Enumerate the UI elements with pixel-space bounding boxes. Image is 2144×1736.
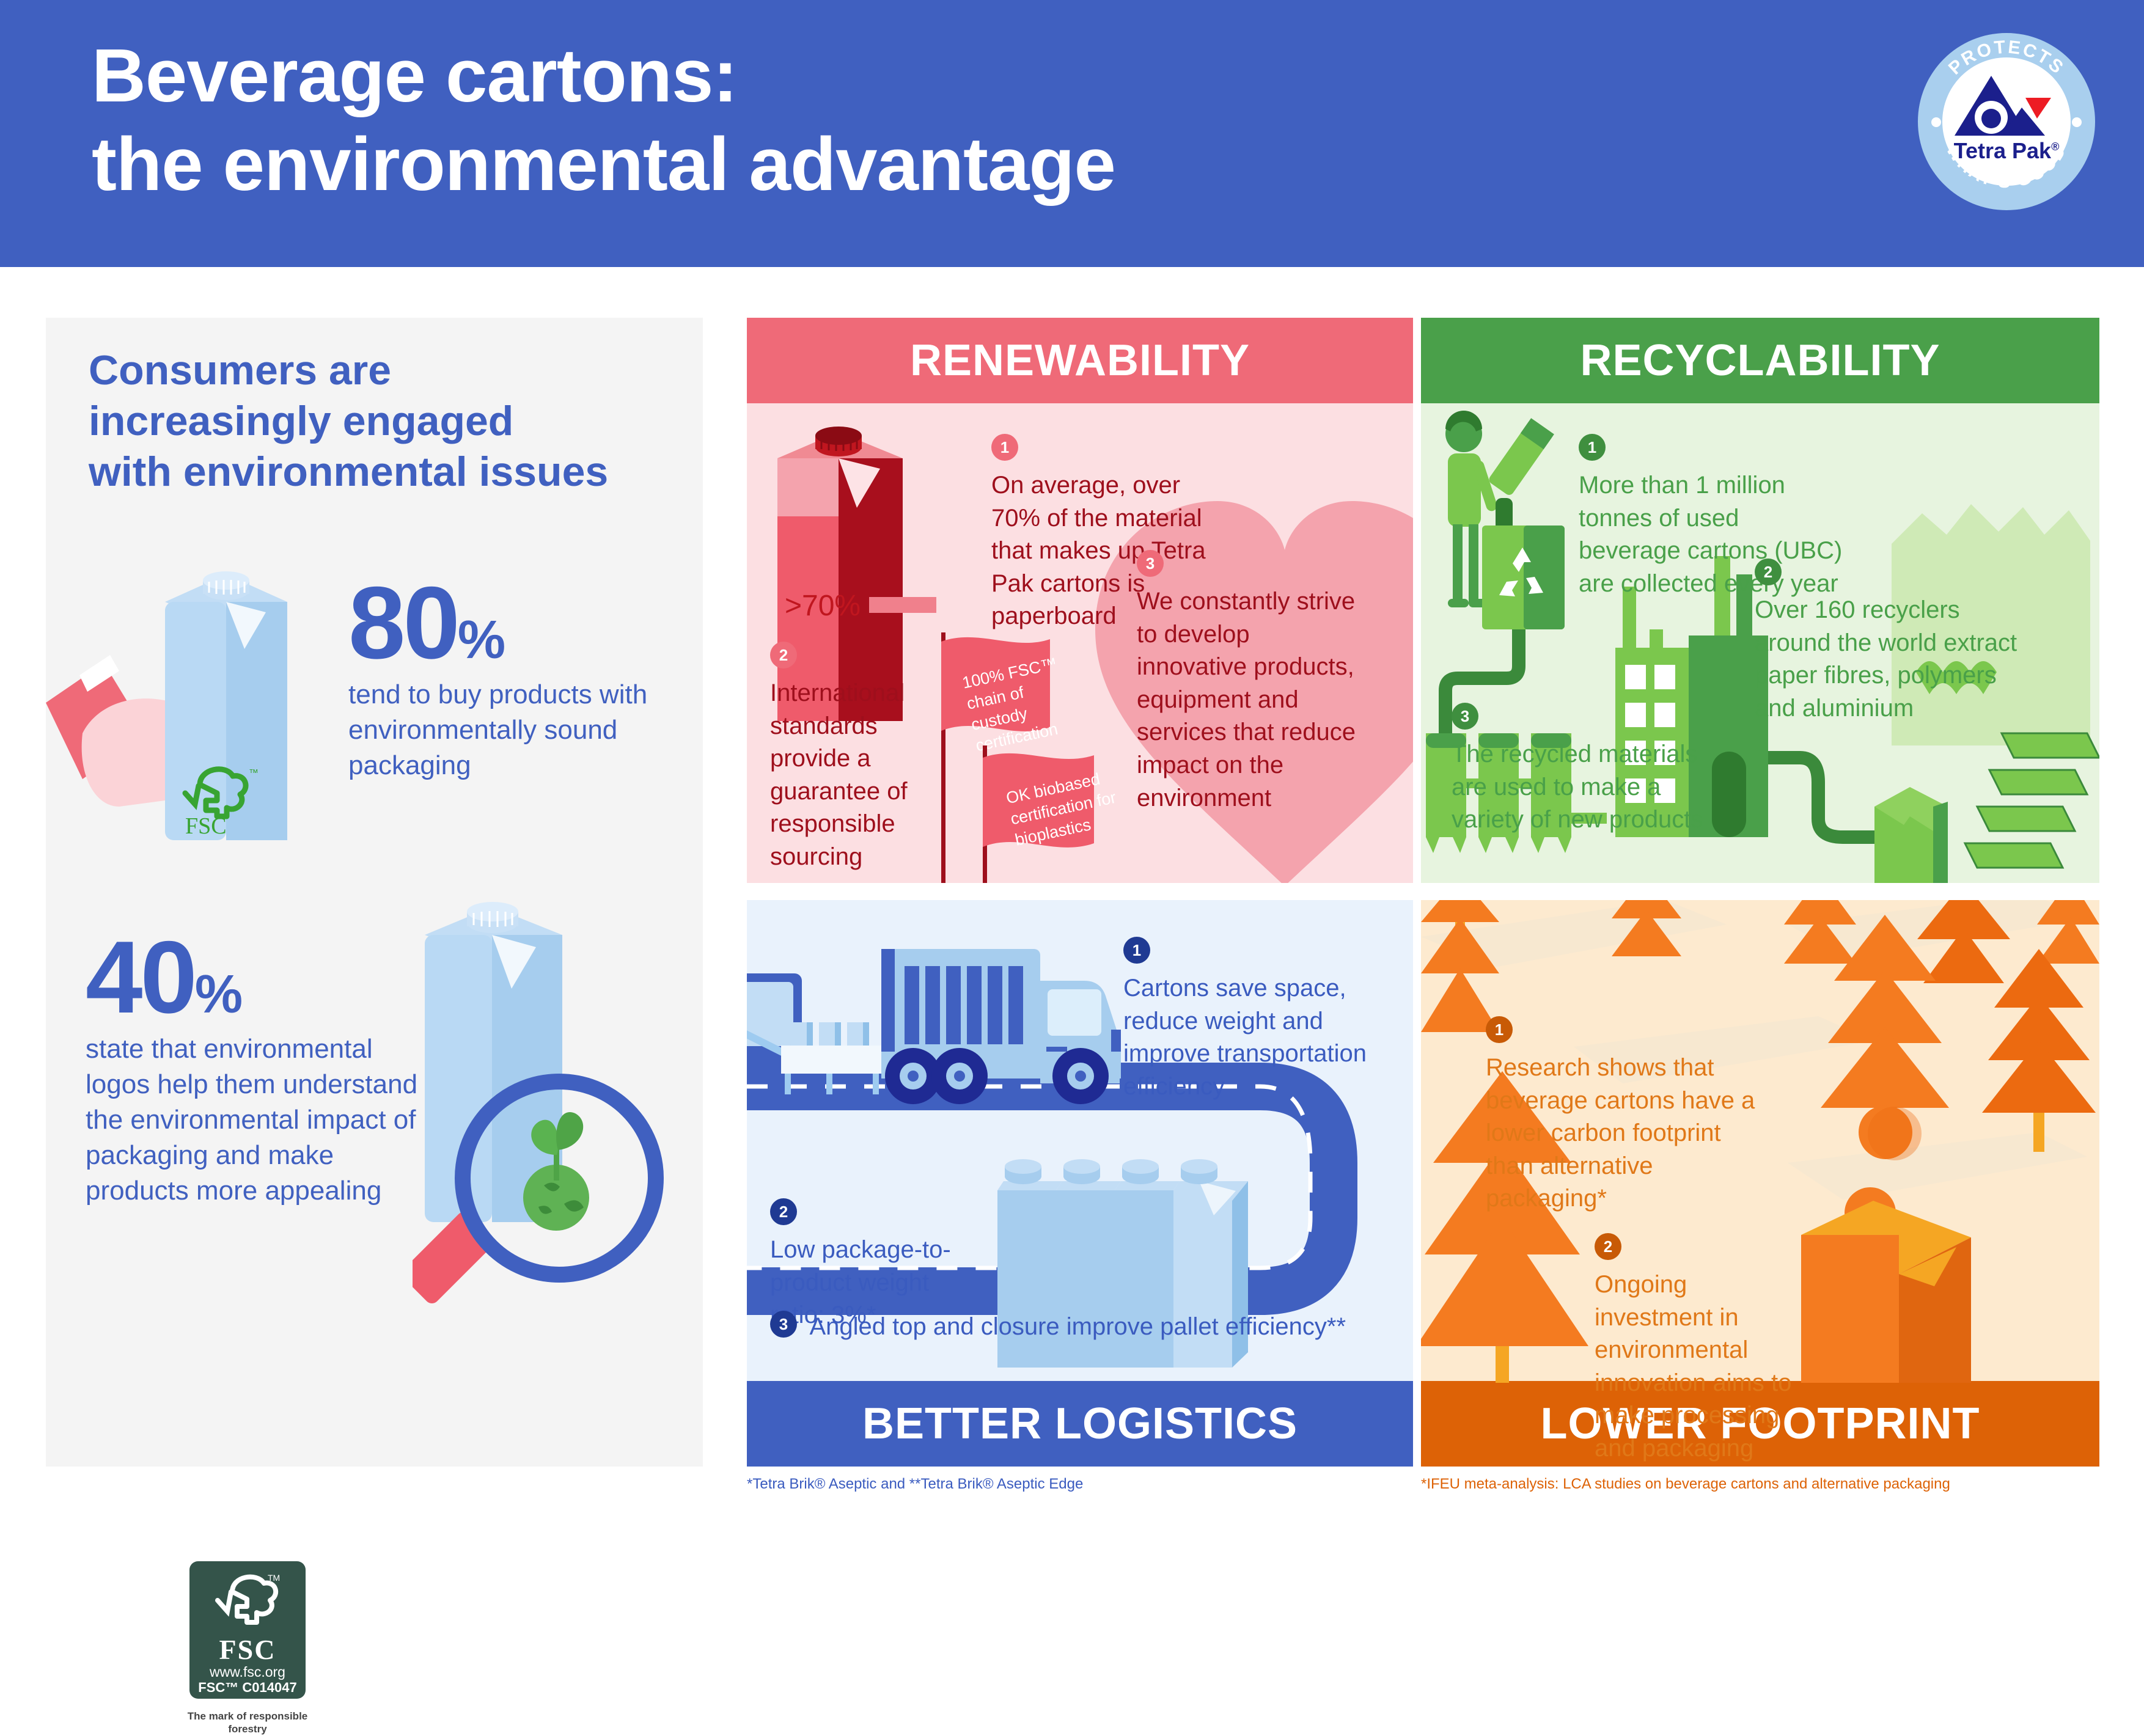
- fsc-label-code: FSC™ C014047: [189, 1680, 306, 1696]
- panel-renewability: RENEWABILITY >70% 1 On average, o: [747, 318, 1413, 883]
- bullet-foo-2: 2 Ongoing investment in environmental in…: [1595, 1233, 1802, 1467]
- page-title-line2: the environmental advantage: [92, 120, 1681, 209]
- bullet-ren-3: 3 We constantly strive to develop innova…: [1137, 550, 1363, 815]
- bullet-foo-2-number: 2: [1595, 1233, 1621, 1260]
- stat-40-description: state that environmental logos help them…: [86, 1031, 428, 1209]
- consumers-heading-line2: increasingly engaged: [89, 396, 669, 447]
- stat-40-unit: %: [195, 964, 240, 1024]
- stat-40-block: 40% state that environmental logos help …: [86, 929, 428, 1209]
- svg-text:TM: TM: [268, 1573, 280, 1583]
- carton-percentage-label: >70%: [785, 590, 861, 622]
- bullet-foo-2-text: Ongoing investment in environmental inno…: [1595, 1269, 1802, 1467]
- fsc-label-caption: The mark of responsible forestry: [171, 1710, 324, 1736]
- fsc-tree-check-white-icon: TM: [211, 1569, 285, 1636]
- page-title: Beverage cartons: the environmental adva…: [92, 32, 1681, 209]
- bullet-ren-1-number: 1: [991, 434, 1018, 461]
- logo-brand-name: Tetra Pak: [1954, 138, 2051, 163]
- stat-80-value: 80%: [348, 574, 666, 672]
- stat-80-unit: %: [458, 609, 503, 670]
- stat-80-block: 80% tend to buy products with environmen…: [348, 574, 666, 783]
- bullet-rec-2-number: 2: [1755, 559, 1782, 585]
- consumers-heading-line3: with environmental issues: [89, 447, 669, 497]
- page-header: Beverage cartons: the environmental adva…: [0, 0, 2144, 267]
- panel-recyclability: RECYCLABILITY: [1421, 318, 2099, 883]
- stat-80-number: 80: [348, 565, 458, 680]
- bullet-rec-3-text: The recycled materials are used to make …: [1452, 738, 1720, 837]
- bullet-log-3: 3 Angled top and closure improve pallet …: [770, 1311, 1381, 1344]
- consumers-heading-line1: Consumers are: [89, 345, 669, 396]
- bullet-log-3-number: 3: [770, 1311, 797, 1338]
- bullet-ren-2: 2 International standards provide a guar…: [770, 642, 923, 874]
- logo-brand-text: Tetra Pak®: [1918, 138, 2095, 164]
- bullet-ren-3-number: 3: [1137, 550, 1164, 577]
- logo-registered-mark: ®: [2051, 141, 2059, 153]
- bullet-rec-1-number: 1: [1579, 434, 1606, 461]
- bullet-log-2-number: 2: [770, 1198, 797, 1225]
- bullet-log-3-text: Angled top and closure improve pallet ef…: [809, 1313, 1346, 1340]
- panel-lower-footprint: LOWER FOOTPRINT: [1421, 900, 2099, 1467]
- consumers-heading: Consumers are increasingly engaged with …: [89, 345, 669, 497]
- stat-40-number: 40: [86, 920, 195, 1035]
- stat-40-value: 40%: [86, 929, 428, 1027]
- bullet-log-1-text: Cartons save space, reduce weight and im…: [1123, 972, 1368, 1103]
- page-title-line1: Beverage cartons:: [92, 34, 737, 118]
- bullet-ren-2-number: 2: [770, 642, 797, 668]
- panel-recyclability-title: RECYCLABILITY: [1421, 318, 2099, 403]
- bullet-foo-1-text: Research shows that beverage cartons hav…: [1486, 1052, 1761, 1215]
- bullet-rec-3: 3 The recycled materials are used to mak…: [1452, 703, 1720, 837]
- bullet-rec-3-number: 3: [1452, 703, 1478, 730]
- infographic-page: Beverage cartons: the environmental adva…: [0, 0, 2144, 1495]
- hand-holding-carton-illustration: FSC ™: [46, 550, 388, 880]
- carton-magnifier-illustration: [413, 898, 700, 1326]
- footnote-right: *IFEU meta-analysis: LCA studies on beve…: [1421, 1476, 1950, 1493]
- footnote-left: *Tetra Brik® Aseptic and **Tetra Brik® A…: [747, 1476, 1083, 1493]
- carton-illustration-2: [413, 898, 700, 1326]
- svg-text:FSC: FSC: [185, 813, 227, 837]
- fsc-tree-check-icon: FSC ™: [174, 758, 272, 837]
- consumers-panel: Consumers are increasingly engaged with …: [46, 318, 703, 1467]
- stat-80-description: tend to buy products with environmentall…: [348, 677, 666, 783]
- bullet-foo-1-number: 1: [1486, 1016, 1513, 1043]
- fsc-label-mark: FSC: [189, 1633, 306, 1666]
- panel-renewability-title: RENEWABILITY: [747, 318, 1413, 403]
- bullet-foo-1: 1 Research shows that beverage cartons h…: [1486, 1016, 1761, 1215]
- bullet-log-1-number: 1: [1123, 937, 1150, 964]
- bullet-rec-2: 2 Over 160 recyclers around the world ex…: [1755, 559, 2030, 725]
- bullet-rec-2-text: Over 160 recyclers around the world extr…: [1755, 594, 2030, 725]
- tetra-pak-logo: PROTECTS WHAT'S GOOD Tetra Pak®: [1918, 33, 2095, 210]
- panel-better-logistics-title: BETTER LOGISTICS: [747, 1381, 1413, 1467]
- bullet-ren-2-text: International standards provide a guaran…: [770, 677, 923, 874]
- bullet-log-1: 1 Cartons save space, reduce weight and …: [1123, 937, 1368, 1103]
- panel-better-logistics: BETTER LOGISTICS: [747, 900, 1413, 1467]
- fsc-certification-label: TM FSC www.fsc.org FSC™ C014047: [189, 1561, 306, 1699]
- fsc-label-url: www.fsc.org: [189, 1664, 306, 1680]
- svg-text:™: ™: [249, 768, 259, 778]
- bullet-ren-3-text: We constantly strive to develop innovati…: [1137, 585, 1363, 815]
